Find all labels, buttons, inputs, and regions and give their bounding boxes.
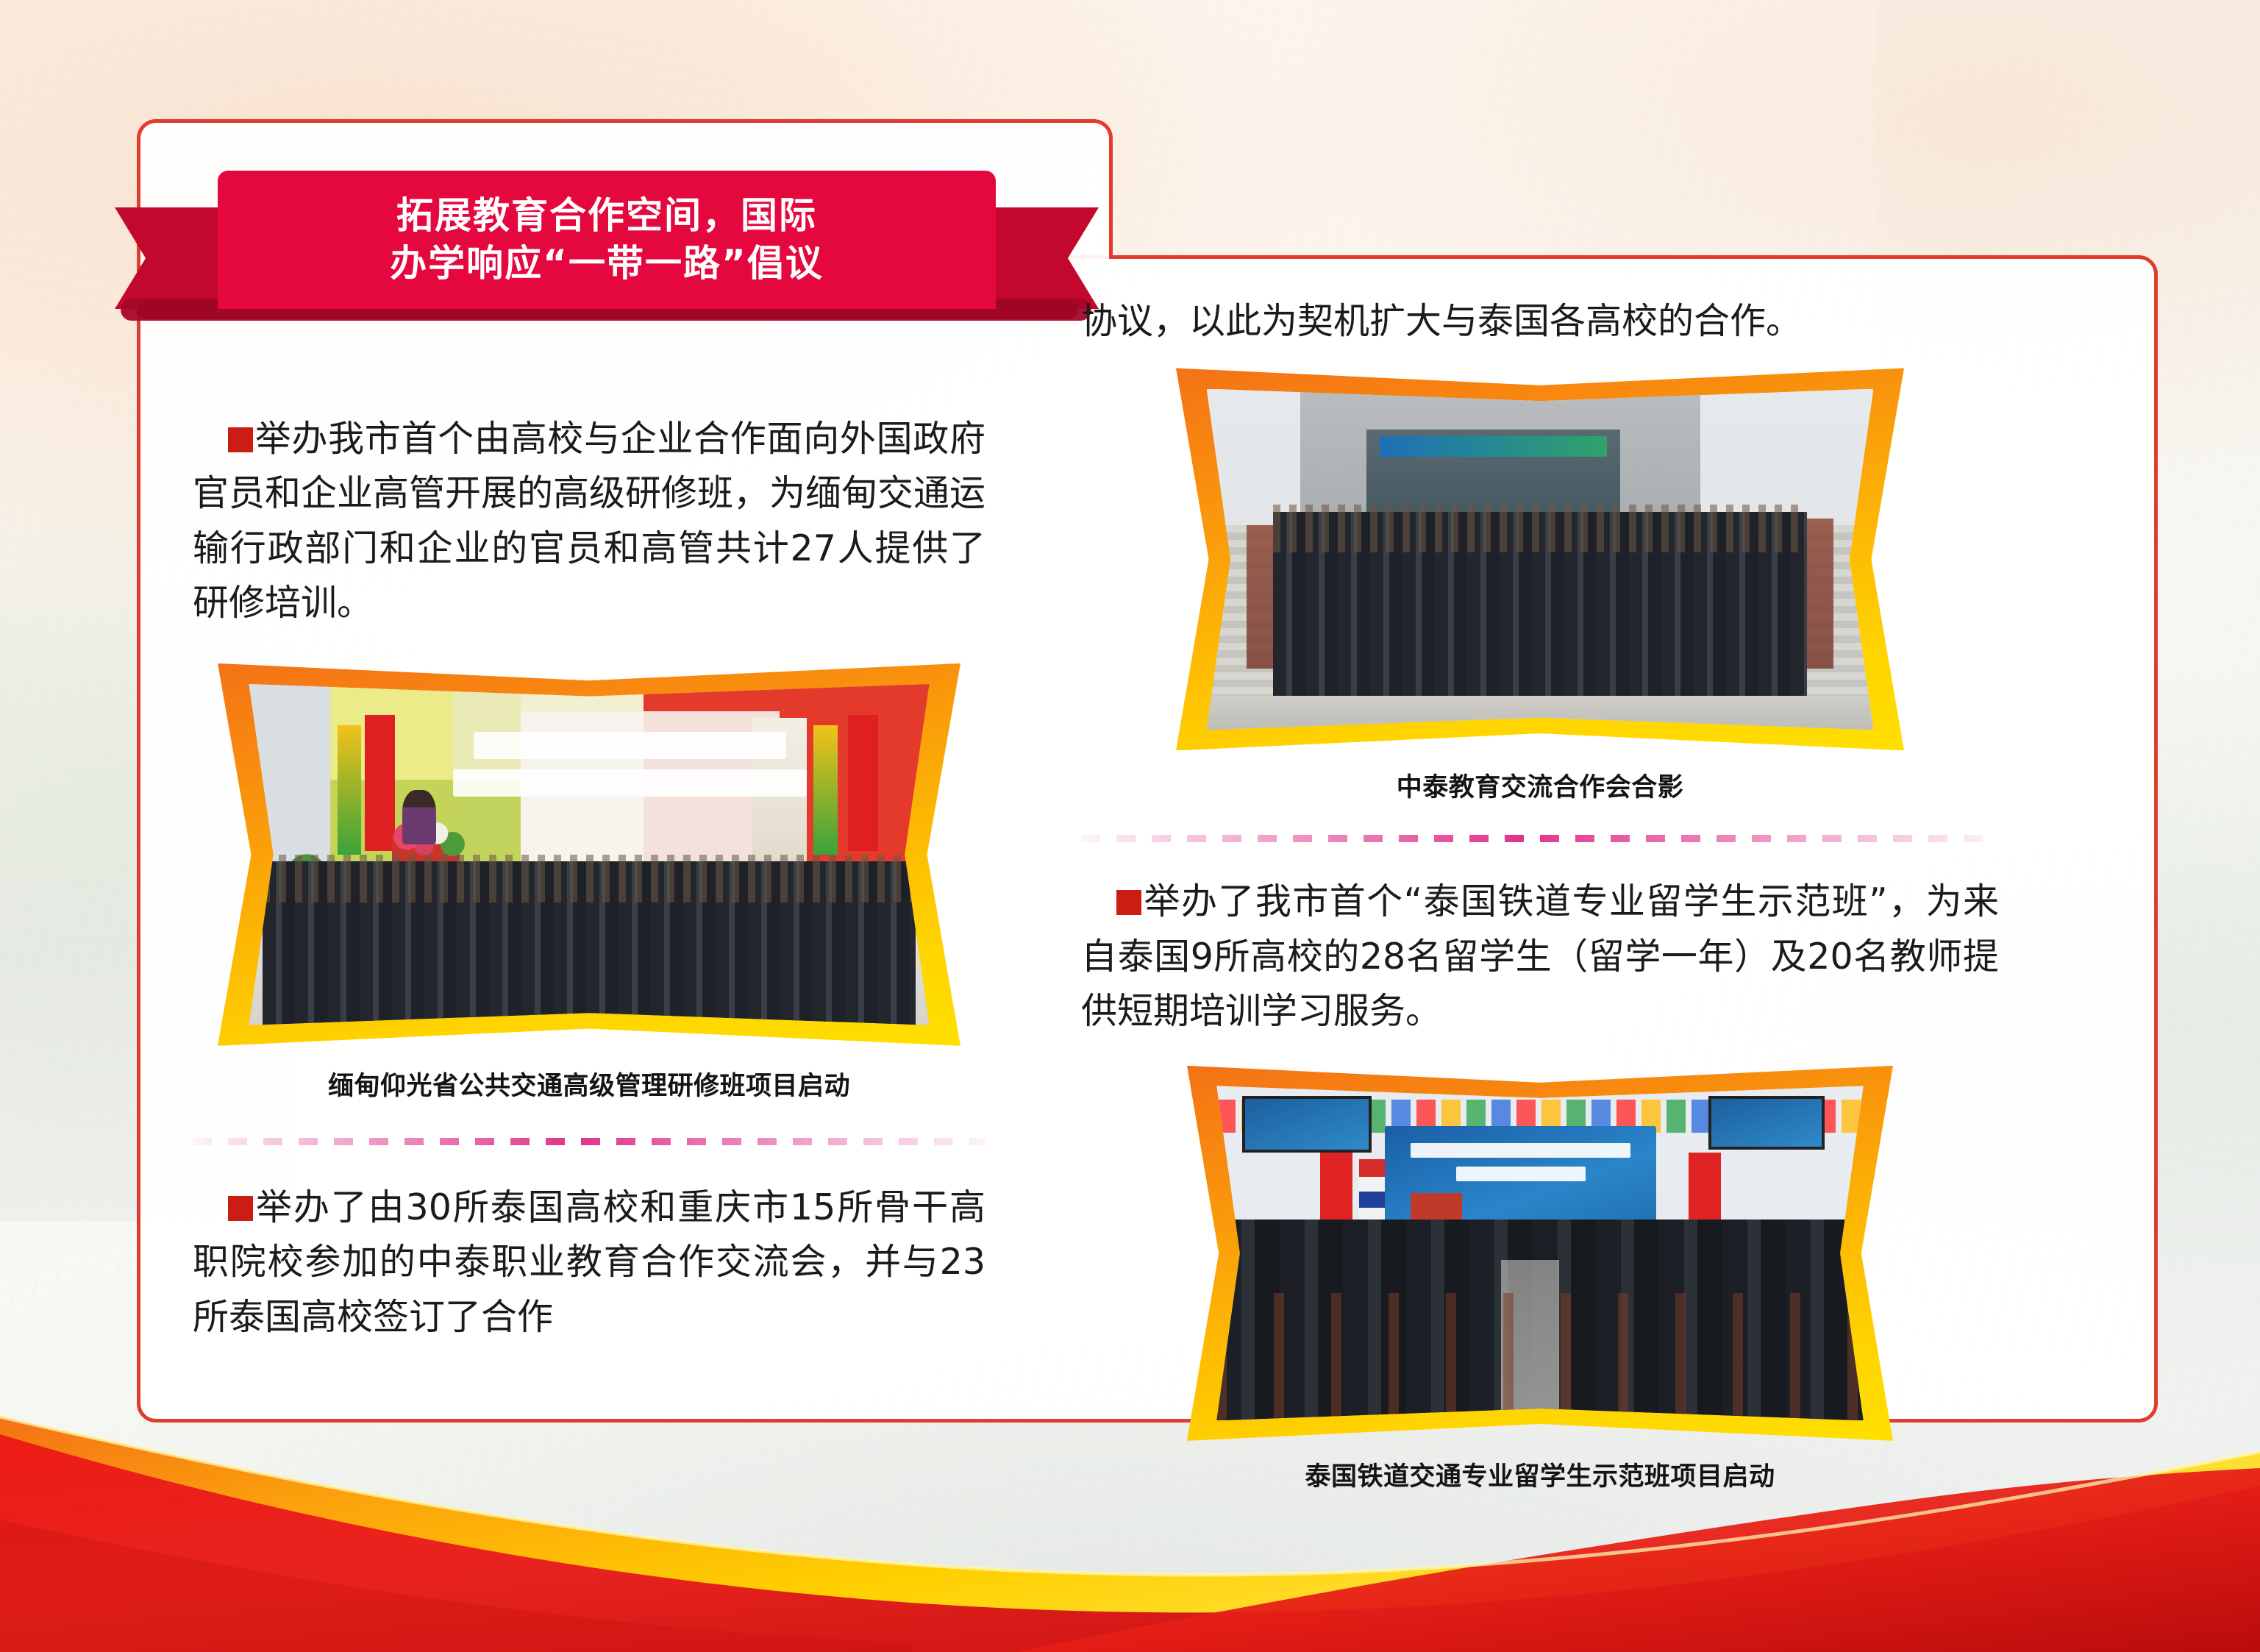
photo-image-3 <box>1216 1086 1863 1420</box>
left-paragraph-2: 举办了由30所泰国高校和重庆市15所骨干高职院校参加的中泰职业教育合作交流会，并… <box>193 1181 985 1345</box>
banner-title-line-2: 办学响应“一带一路”倡议 <box>390 240 824 288</box>
right-paragraph-3: 举办了我市首个“泰国铁道专业留学生示范班”，为来自泰国9所高校的28名留学生（留… <box>1081 875 1999 1039</box>
left-column: 举办我市首个由高校与企业合作面向外国政府官员和企业高管开展的高级研修班，为缅甸交… <box>193 412 985 1345</box>
divider-left <box>193 1138 985 1145</box>
photo-thai-launch <box>1187 1066 1893 1441</box>
left-paragraph-1-text: 举办我市首个由高校与企业合作面向外国政府官员和企业高管开展的高级研修班，为缅甸交… <box>193 418 985 624</box>
left-paragraph-1: 举办我市首个由高校与企业合作面向外国政府官员和企业高管开展的高级研修班，为缅甸交… <box>193 412 985 631</box>
right-paragraph-3-text: 举办了我市首个“泰国铁道专业留学生示范班”，为来自泰国9所高校的28名留学生（留… <box>1081 880 1999 1032</box>
banner-title-line-1: 拓展教育合作空间，国际 <box>396 192 817 240</box>
photo-image-2 <box>1207 389 1874 730</box>
photo-image-1 <box>249 684 929 1025</box>
scene-group-photo <box>1207 389 1874 730</box>
scene-thai-launch <box>1216 1086 1863 1420</box>
photo-caption-1: 缅甸仰光省公共交通高级管理研修班项目启动 <box>193 1065 985 1103</box>
poster-page: 拓展教育合作空间，国际 办学响应“一带一路”倡议 举办我市首个由高校与企业合作面… <box>0 0 2260 1652</box>
right-column: 协议，以此为契机扩大与泰国各高校的合作。 中泰教育交流合作会合影 <box>1081 294 1999 1493</box>
bullet-square-icon <box>1116 890 1141 915</box>
right-paragraph-continuation: 协议，以此为契机扩大与泰国各高校的合作。 <box>1081 294 1999 349</box>
photo-myanmar-launch <box>218 663 960 1046</box>
left-paragraph-2-text: 举办了由30所泰国高校和重庆市15所骨干高职院校参加的中泰职业教育合作交流会，并… <box>193 1186 985 1338</box>
divider-right <box>1081 835 1999 842</box>
scene-myanmar <box>249 684 929 1025</box>
ribbon-svg <box>0 1409 2260 1652</box>
bullet-square-icon <box>228 427 253 452</box>
photo-group-photo <box>1176 368 1904 750</box>
ribbon-red-fold <box>1015 1468 2260 1652</box>
ribbon-main-panel: 拓展教育合作空间，国际 办学响应“一带一路”倡议 <box>218 171 996 309</box>
title-ribbon-banner: 拓展教育合作空间，国际 办学响应“一带一路”倡议 <box>218 171 996 340</box>
photo-caption-2: 中泰教育交流合作会合影 <box>1081 766 1999 804</box>
bullet-square-icon <box>228 1196 253 1221</box>
bottom-decorative-ribbon <box>0 1409 2260 1652</box>
